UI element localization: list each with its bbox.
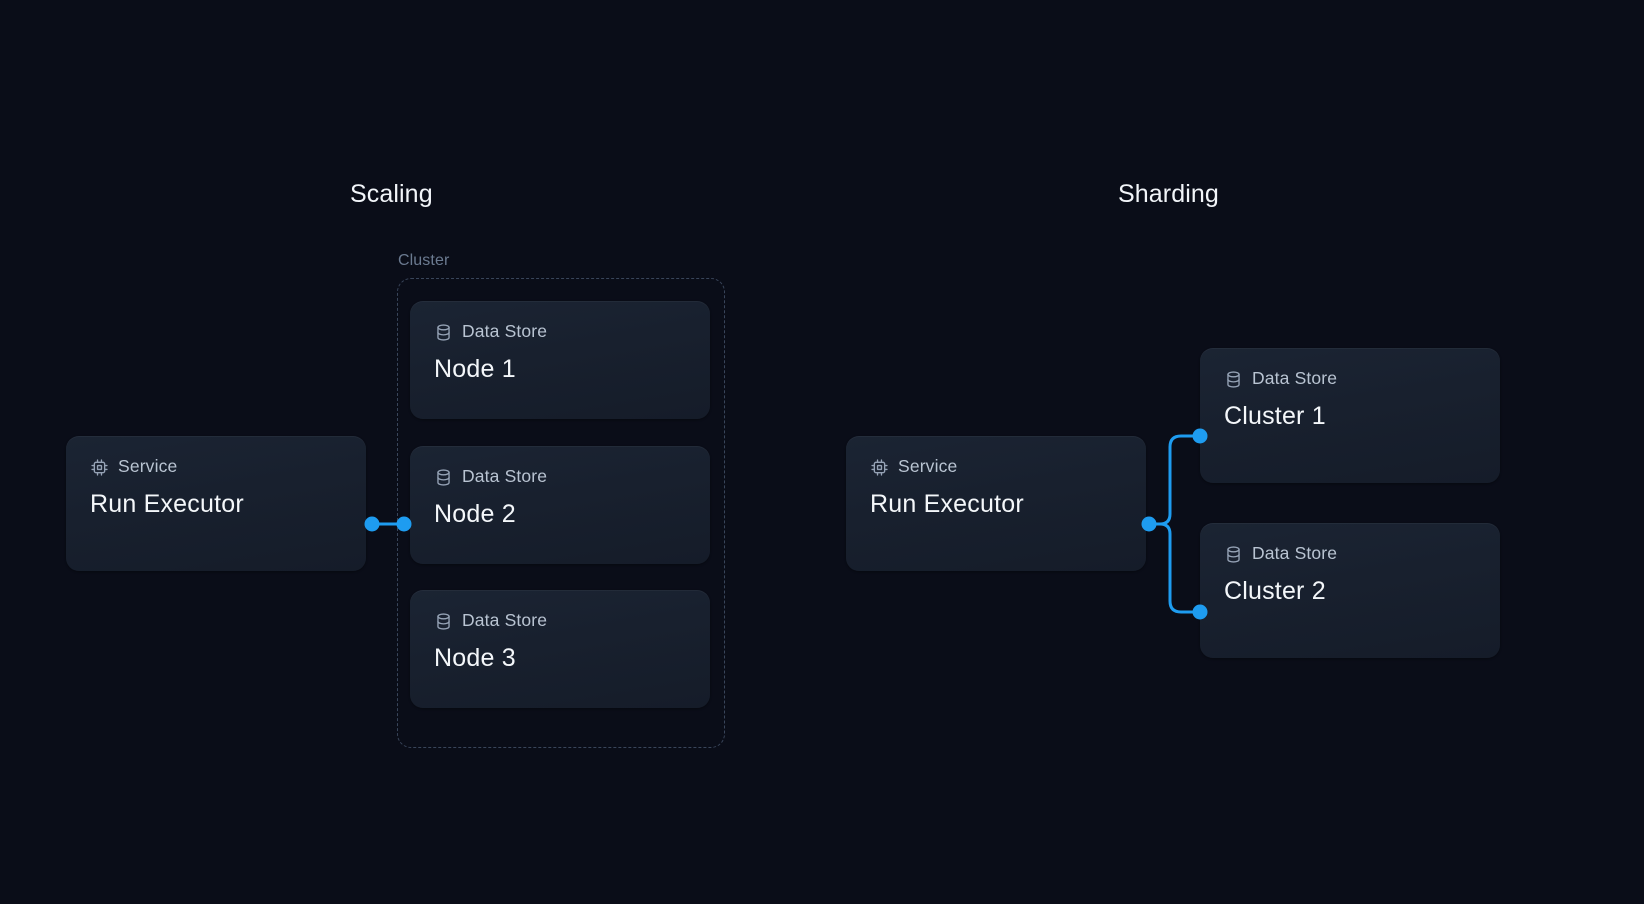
card-title: Node 3 [434, 644, 688, 673]
data-store-card-node-2[interactable]: Data Store Node 2 [410, 446, 710, 564]
data-store-card-node-1[interactable]: Data Store Node 1 [410, 301, 710, 419]
cpu-icon [90, 458, 109, 477]
edge-service-to-cluster-1 [1152, 436, 1194, 524]
card-title: Run Executor [870, 490, 1124, 519]
card-header: Data Store [434, 466, 688, 488]
diagram-canvas: Scaling Sharding Cluster Service Run Exe… [0, 0, 1644, 904]
card-header: Service [90, 456, 344, 478]
card-header: Data Store [434, 321, 688, 343]
card-header: Data Store [1224, 543, 1478, 565]
card-type-label: Data Store [1252, 545, 1337, 563]
database-icon [1224, 370, 1243, 389]
service-card-sharding[interactable]: Service Run Executor [846, 436, 1146, 571]
card-header: Data Store [1224, 368, 1478, 390]
card-title: Cluster 1 [1224, 402, 1478, 431]
edge-dot-service-left-out [365, 517, 380, 532]
database-icon [434, 468, 453, 487]
cluster-group-label: Cluster [398, 252, 449, 270]
section-title-sharding: Sharding [1118, 180, 1219, 209]
database-icon [1224, 545, 1243, 564]
section-title-scaling: Scaling [350, 180, 433, 209]
database-icon [434, 612, 453, 631]
card-header: Data Store [434, 610, 688, 632]
card-title: Node 2 [434, 500, 688, 529]
data-store-card-node-3[interactable]: Data Store Node 3 [410, 590, 710, 708]
card-title: Run Executor [90, 490, 344, 519]
card-type-label: Service [898, 458, 957, 476]
card-type-label: Data Store [462, 612, 547, 630]
database-icon [434, 323, 453, 342]
card-title: Cluster 2 [1224, 577, 1478, 606]
card-type-label: Data Store [1252, 370, 1337, 388]
data-store-card-cluster-1[interactable]: Data Store Cluster 1 [1200, 348, 1500, 483]
card-type-label: Service [118, 458, 177, 476]
card-type-label: Data Store [462, 468, 547, 486]
card-header: Service [870, 456, 1124, 478]
card-title: Node 1 [434, 355, 688, 384]
service-card-scaling[interactable]: Service Run Executor [66, 436, 366, 571]
cpu-icon [870, 458, 889, 477]
data-store-card-cluster-2[interactable]: Data Store Cluster 2 [1200, 523, 1500, 658]
edge-service-to-cluster-2 [1152, 524, 1194, 612]
card-type-label: Data Store [462, 323, 547, 341]
